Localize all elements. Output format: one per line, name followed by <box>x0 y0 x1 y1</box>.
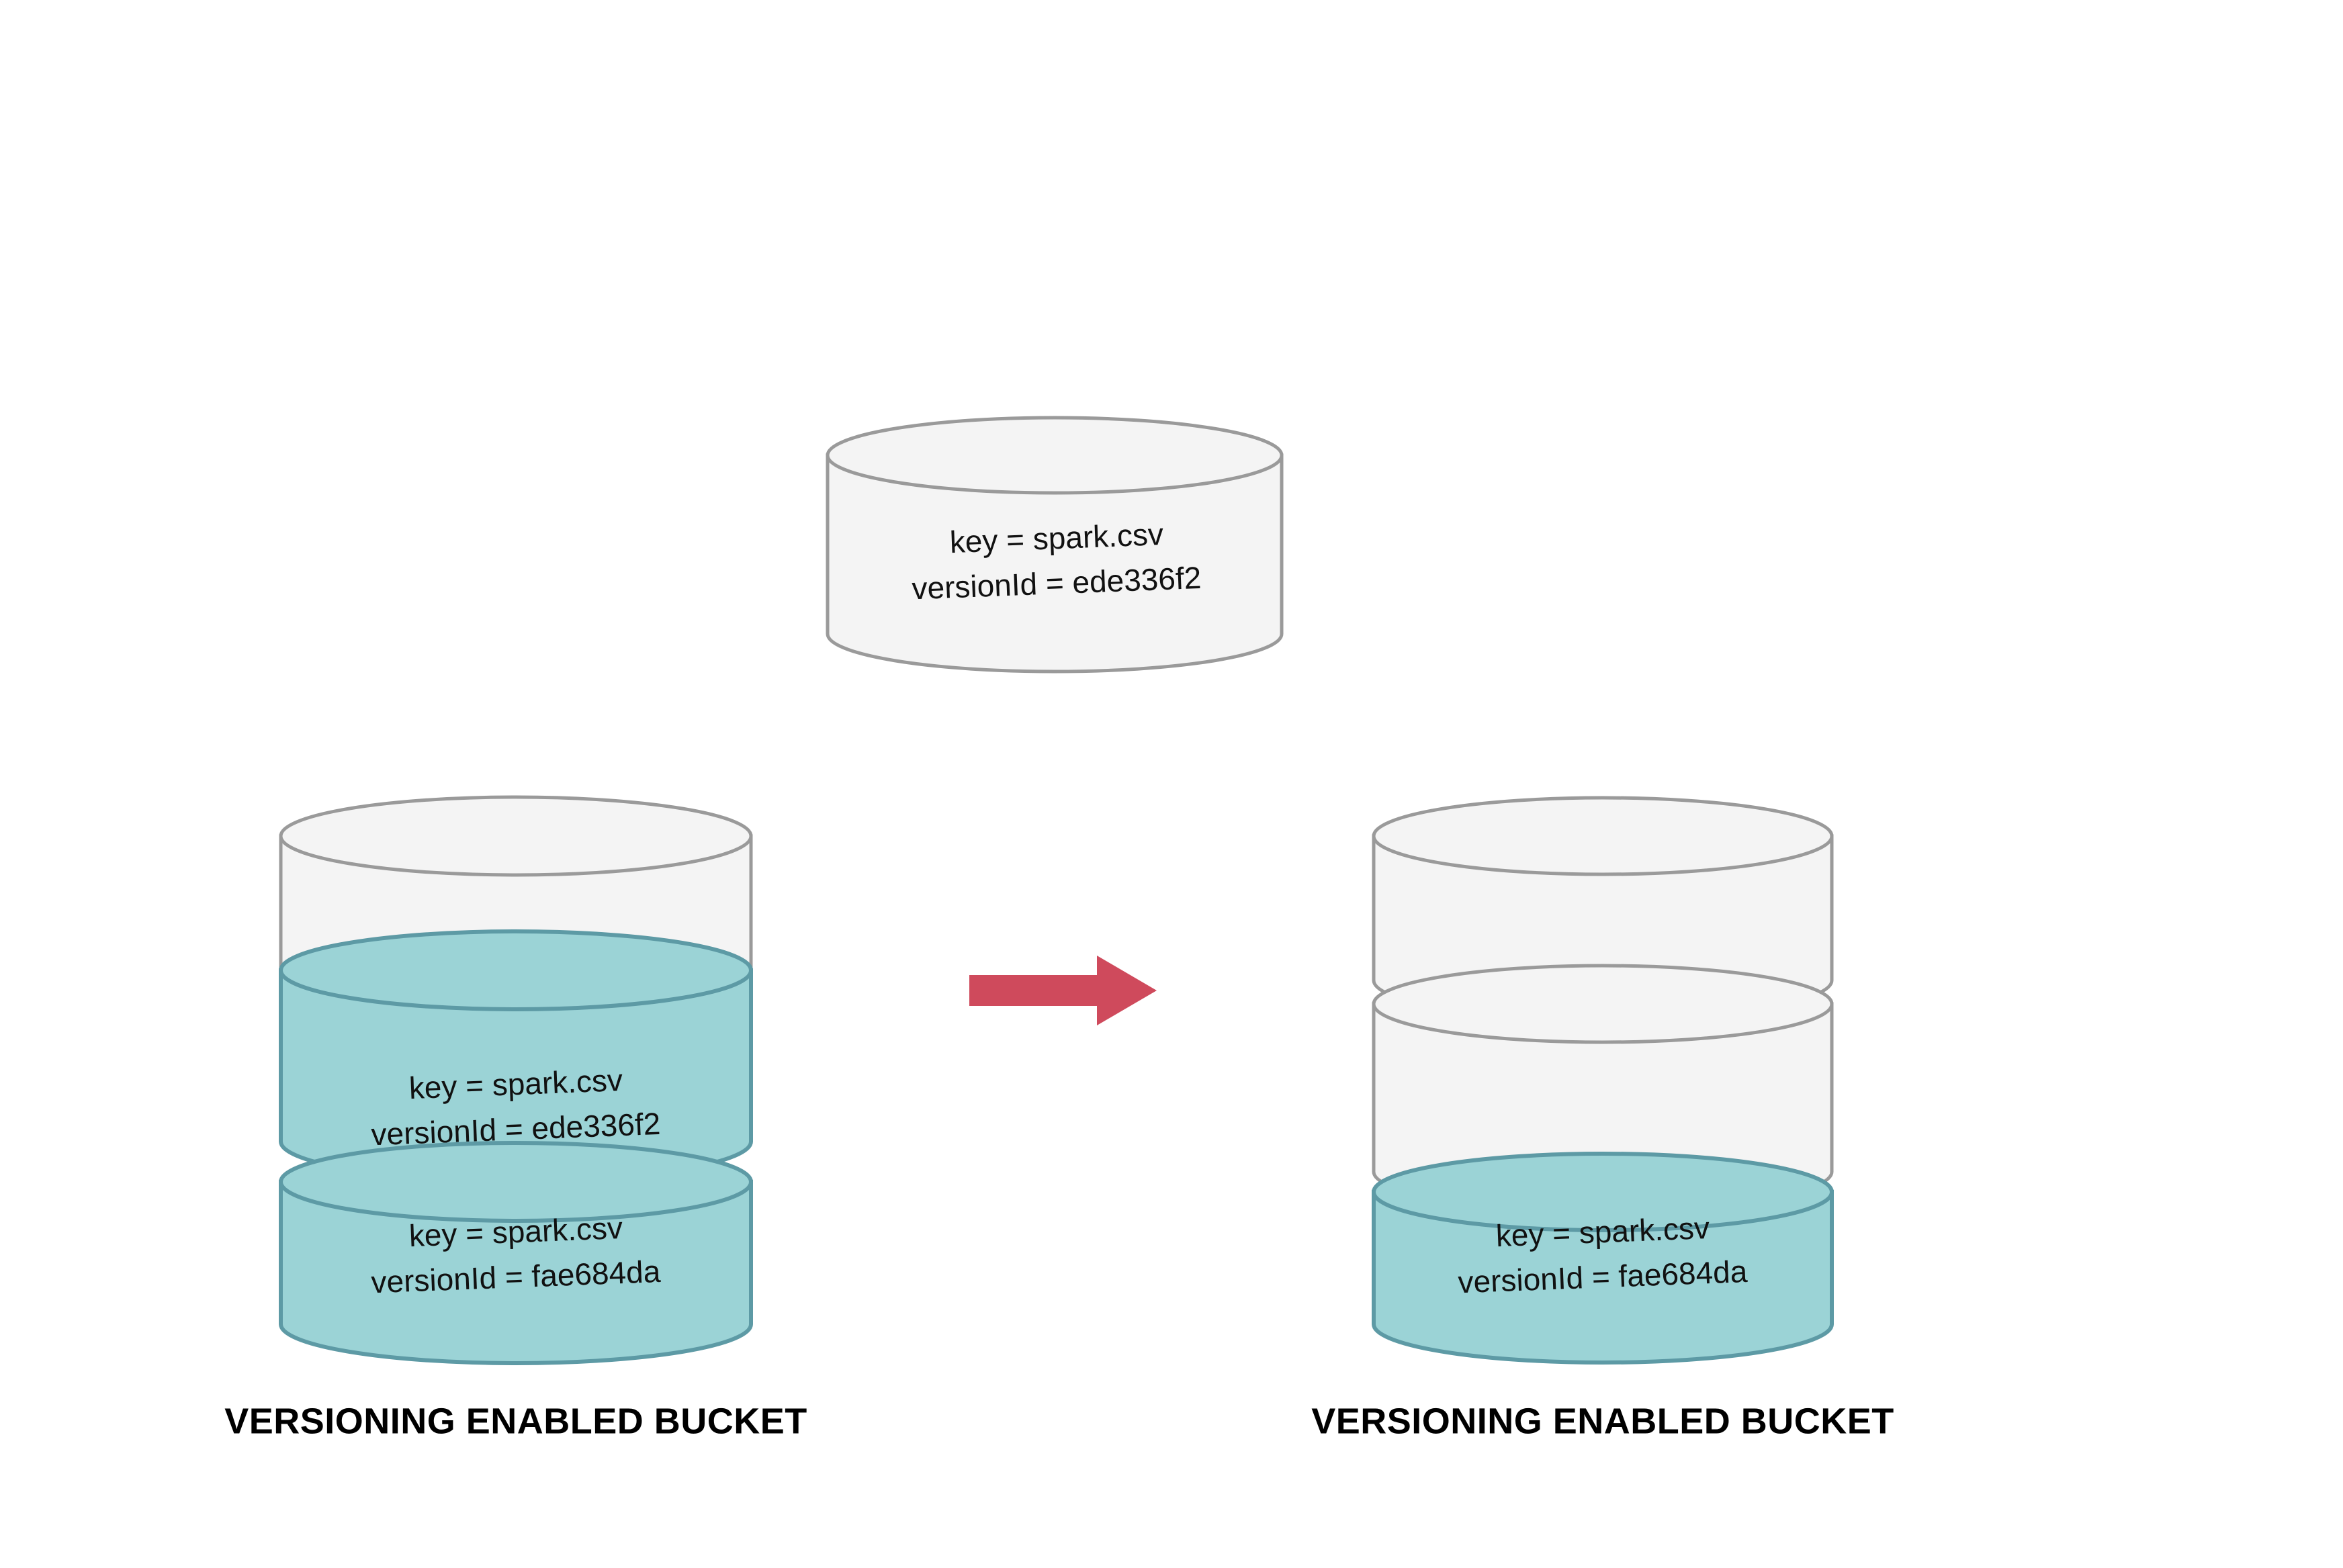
incoming-object-top-ellipse <box>828 418 1282 493</box>
left-seg1-top-ellipse <box>281 797 751 875</box>
versioning-diagram-svg: key = spark.csv versionId = ede336f2 key… <box>0 0 2343 1568</box>
incoming-object-cylinder: key = spark.csv versionId = ede336f2 <box>828 418 1282 672</box>
left-seg2-top-ellipse <box>281 931 751 1009</box>
right-seg2-top-ellipse <box>1374 966 1832 1042</box>
right-seg1-top-ellipse <box>1374 798 1832 874</box>
left-bucket-object-version-segment-fae684da: key = spark.csv versionId = fae684da <box>281 1143 751 1363</box>
transition-arrow <box>969 956 1157 1025</box>
diagram-canvas: key = spark.csv versionId = ede336f2 key… <box>0 0 2343 1568</box>
right-bucket: key = spark.csv versionId = fae684da VER… <box>1311 798 1894 1441</box>
right-bucket-caption: VERSIONING ENABLED BUCKET <box>1311 1401 1894 1441</box>
left-seg3-top-ellipse <box>281 1143 751 1221</box>
left-bucket: key = spark.csv versionId = ede336f2 key… <box>224 797 807 1441</box>
left-bucket-caption: VERSIONING ENABLED BUCKET <box>224 1401 807 1441</box>
right-bucket-object-version-segment-fae684da: key = spark.csv versionId = fae684da <box>1374 1154 1832 1363</box>
transition-arrow-shape <box>969 956 1157 1025</box>
